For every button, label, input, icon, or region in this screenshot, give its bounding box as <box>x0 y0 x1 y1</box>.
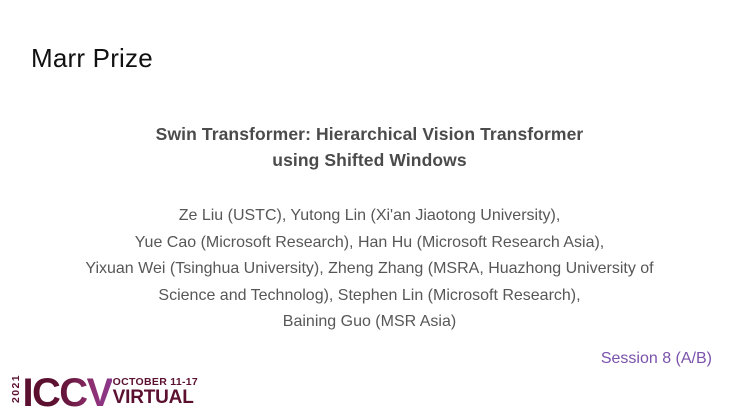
author-line-4: Science and Technolog), Stephen Lin (Mic… <box>0 283 739 310</box>
presentation-slide: Marr Prize Swin Transformer: Hierarchica… <box>0 0 739 415</box>
award-heading: Marr Prize <box>31 42 153 74</box>
paper-title: Swin Transformer: Hierarchical Vision Tr… <box>0 122 739 173</box>
author-line-2: Yue Cao (Microsoft Research), Han Hu (Mi… <box>0 230 739 257</box>
author-list: Ze Liu (USTC), Yutong Lin (Xi'an Jiaoton… <box>0 203 739 336</box>
session-label: Session 8 (A/B) <box>601 350 712 368</box>
author-line-3: Yixuan Wei (Tsinghua University), Zheng … <box>0 256 739 283</box>
iccv-logo-mode: VIRTUAL <box>113 388 198 408</box>
iccv-logo-wordmark: ICCV <box>23 374 112 412</box>
iccv-logo-dates: OCTOBER 11-17 VIRTUAL <box>113 376 198 408</box>
paper-title-line-1: Swin Transformer: Hierarchical Vision Tr… <box>0 122 739 148</box>
iccv-logo: 2021 ICCV OCTOBER 11-17 VIRTUAL <box>11 366 198 410</box>
author-line-1: Ze Liu (USTC), Yutong Lin (Xi'an Jiaoton… <box>0 203 739 230</box>
author-line-5: Baining Guo (MSR Asia) <box>0 309 739 336</box>
paper-title-line-2: using Shifted Windows <box>0 148 739 174</box>
iccv-logo-year: 2021 <box>11 370 22 408</box>
